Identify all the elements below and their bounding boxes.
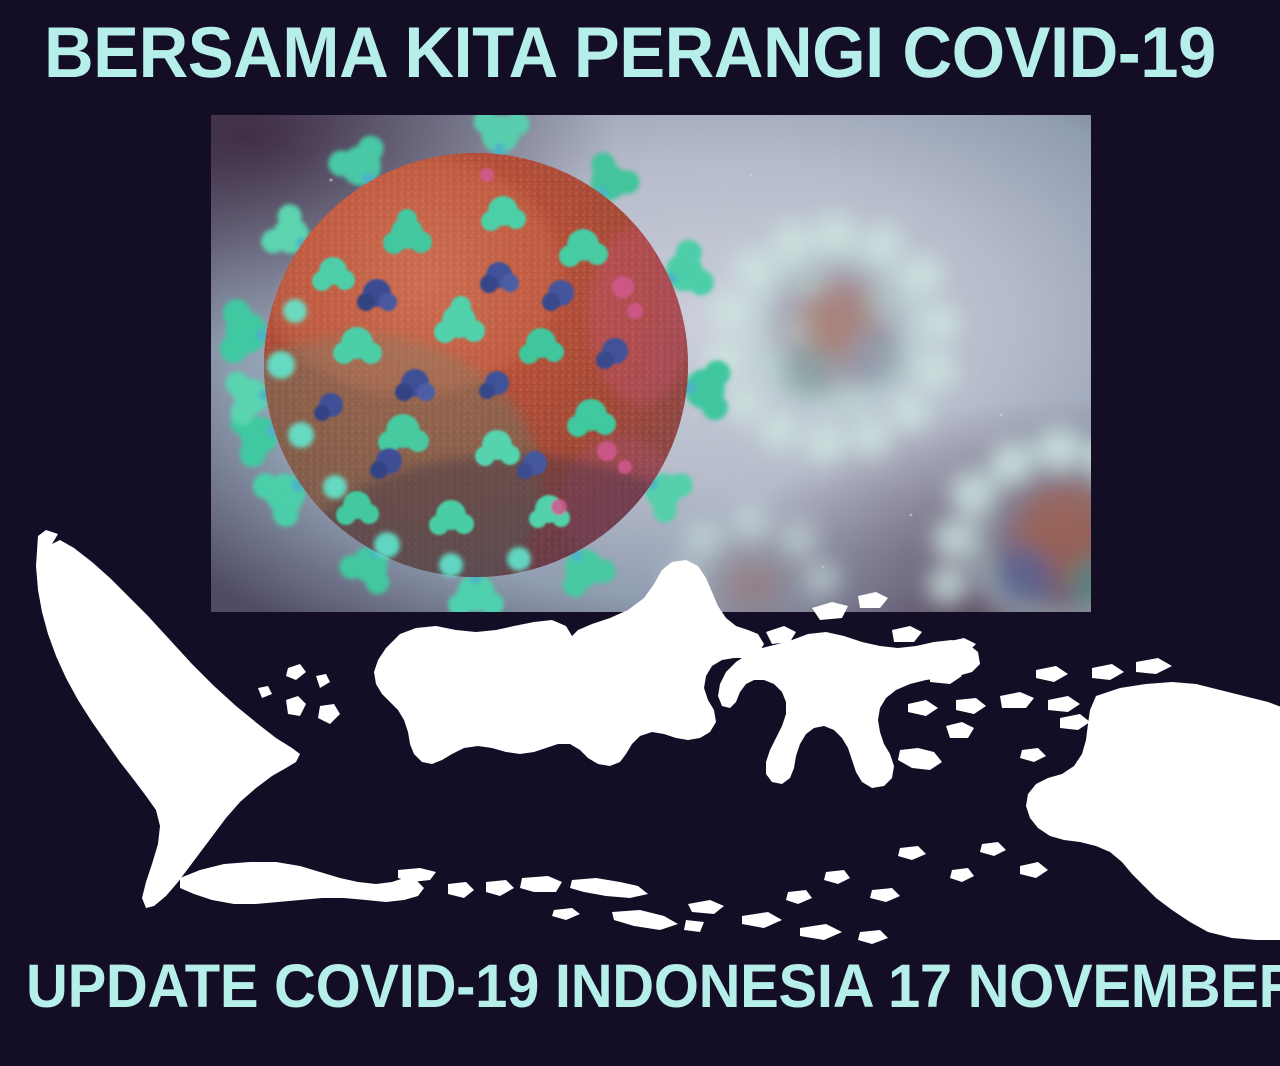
page-title: BERSAMA KITA PERANGI COVID-19 [44,14,1190,92]
indonesia-map [0,500,1280,970]
indonesia-map-icon [0,500,1280,970]
poster-canvas: BERSAMA KITA PERANGI COVID-19 [0,0,1280,1066]
footer-update-text: UPDATE COVID-19 INDONESIA 17 NOVEMBER 20… [26,953,1204,1019]
